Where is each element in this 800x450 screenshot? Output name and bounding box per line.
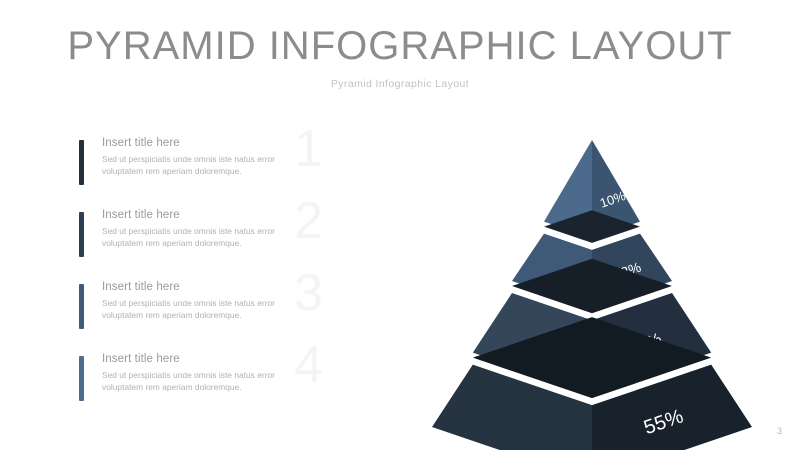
list-item-description: Sed ut perspiciatis unde omnis iste natu…	[102, 298, 302, 321]
bullet-list: Insert title here Sed ut perspiciatis un…	[79, 137, 339, 425]
list-item-number: 4	[294, 339, 323, 391]
accent-bar	[79, 356, 84, 401]
accent-bar	[79, 212, 84, 257]
list-item-number: 1	[294, 123, 323, 175]
accent-bar	[79, 140, 84, 185]
list-item-number: 2	[294, 195, 323, 247]
list-item-description: Sed ut perspiciatis unde omnis iste natu…	[102, 154, 302, 177]
accent-bar	[79, 284, 84, 329]
list-item-number: 3	[294, 267, 323, 319]
list-item-description: Sed ut perspiciatis unde omnis iste natu…	[102, 370, 302, 393]
page-subtitle: Pyramid Infographic Layout	[0, 78, 800, 90]
list-item[interactable]: Insert title here Sed ut perspiciatis un…	[79, 353, 339, 418]
list-item-description: Sed ut perspiciatis unde omnis iste natu…	[102, 226, 302, 249]
pyramid-chart[interactable]: 10%18%35%55%	[430, 128, 760, 423]
page-number: 3	[777, 426, 782, 436]
pyramid-svg: 10%18%35%55%	[430, 128, 760, 423]
slide-header: PYRAMID INFOGRAPHIC LAYOUT Pyramid Infog…	[0, 22, 800, 90]
pyramid-level-4[interactable]: 55%	[432, 317, 752, 450]
slide: PYRAMID INFOGRAPHIC LAYOUT Pyramid Infog…	[0, 0, 800, 450]
page-title: PYRAMID INFOGRAPHIC LAYOUT	[0, 22, 800, 70]
